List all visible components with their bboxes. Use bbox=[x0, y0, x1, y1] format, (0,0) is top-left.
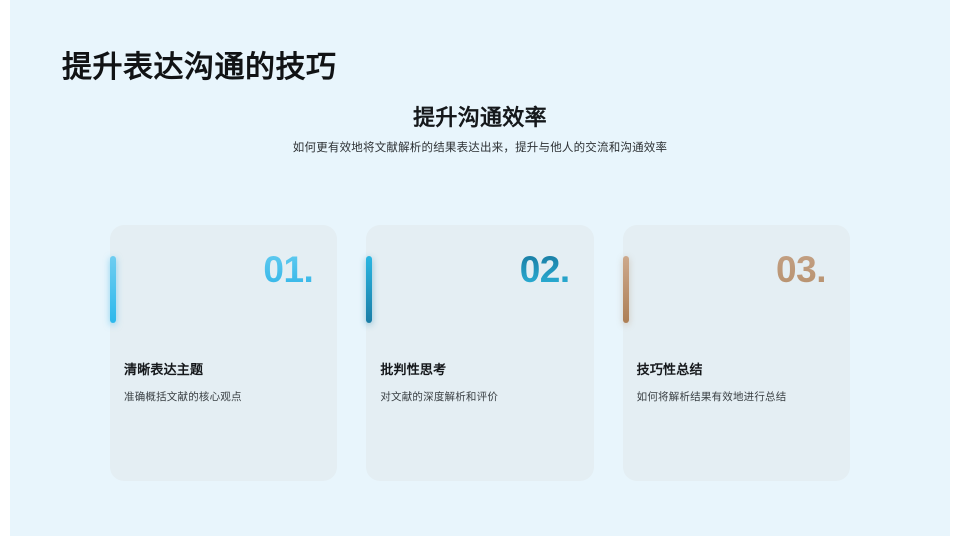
page-title: 提升表达沟通的技巧 bbox=[62, 42, 337, 86]
card-title: 技巧性总结 bbox=[637, 359, 703, 378]
card-description: 准确概括文献的核心观点 bbox=[124, 389, 242, 404]
card-title: 清晰表达主题 bbox=[124, 359, 203, 378]
card-description: 如何将解析结果有效地进行总结 bbox=[637, 389, 787, 404]
card-number: 03. bbox=[776, 251, 826, 288]
slide-canvas: 提升表达沟通的技巧 提升沟通效率 如何更有效地将文献解析的结果表达出来，提升与他… bbox=[10, 0, 950, 536]
card-item-3[interactable]: 03. 技巧性总结 如何将解析结果有效地进行总结 bbox=[623, 225, 850, 481]
card-number: 02. bbox=[520, 251, 570, 288]
card-number: 01. bbox=[263, 251, 313, 288]
card-description: 对文献的深度解析和评价 bbox=[380, 389, 498, 404]
card-item-1[interactable]: 01. 清晰表达主题 准确概括文献的核心观点 bbox=[110, 225, 337, 481]
section-description: 如何更有效地将文献解析的结果表达出来，提升与他人的交流和沟通效率 bbox=[10, 139, 950, 155]
accent-bar-icon bbox=[623, 256, 629, 323]
card-list: 01. 清晰表达主题 准确概括文献的核心观点 02. 批判性思考 对文献的深度解… bbox=[110, 225, 850, 481]
card-title: 批判性思考 bbox=[380, 359, 446, 378]
accent-bar-icon bbox=[110, 256, 116, 323]
section-heading: 提升沟通效率 bbox=[10, 100, 950, 132]
card-item-2[interactable]: 02. 批判性思考 对文献的深度解析和评价 bbox=[366, 225, 593, 481]
accent-bar-icon bbox=[366, 256, 372, 323]
